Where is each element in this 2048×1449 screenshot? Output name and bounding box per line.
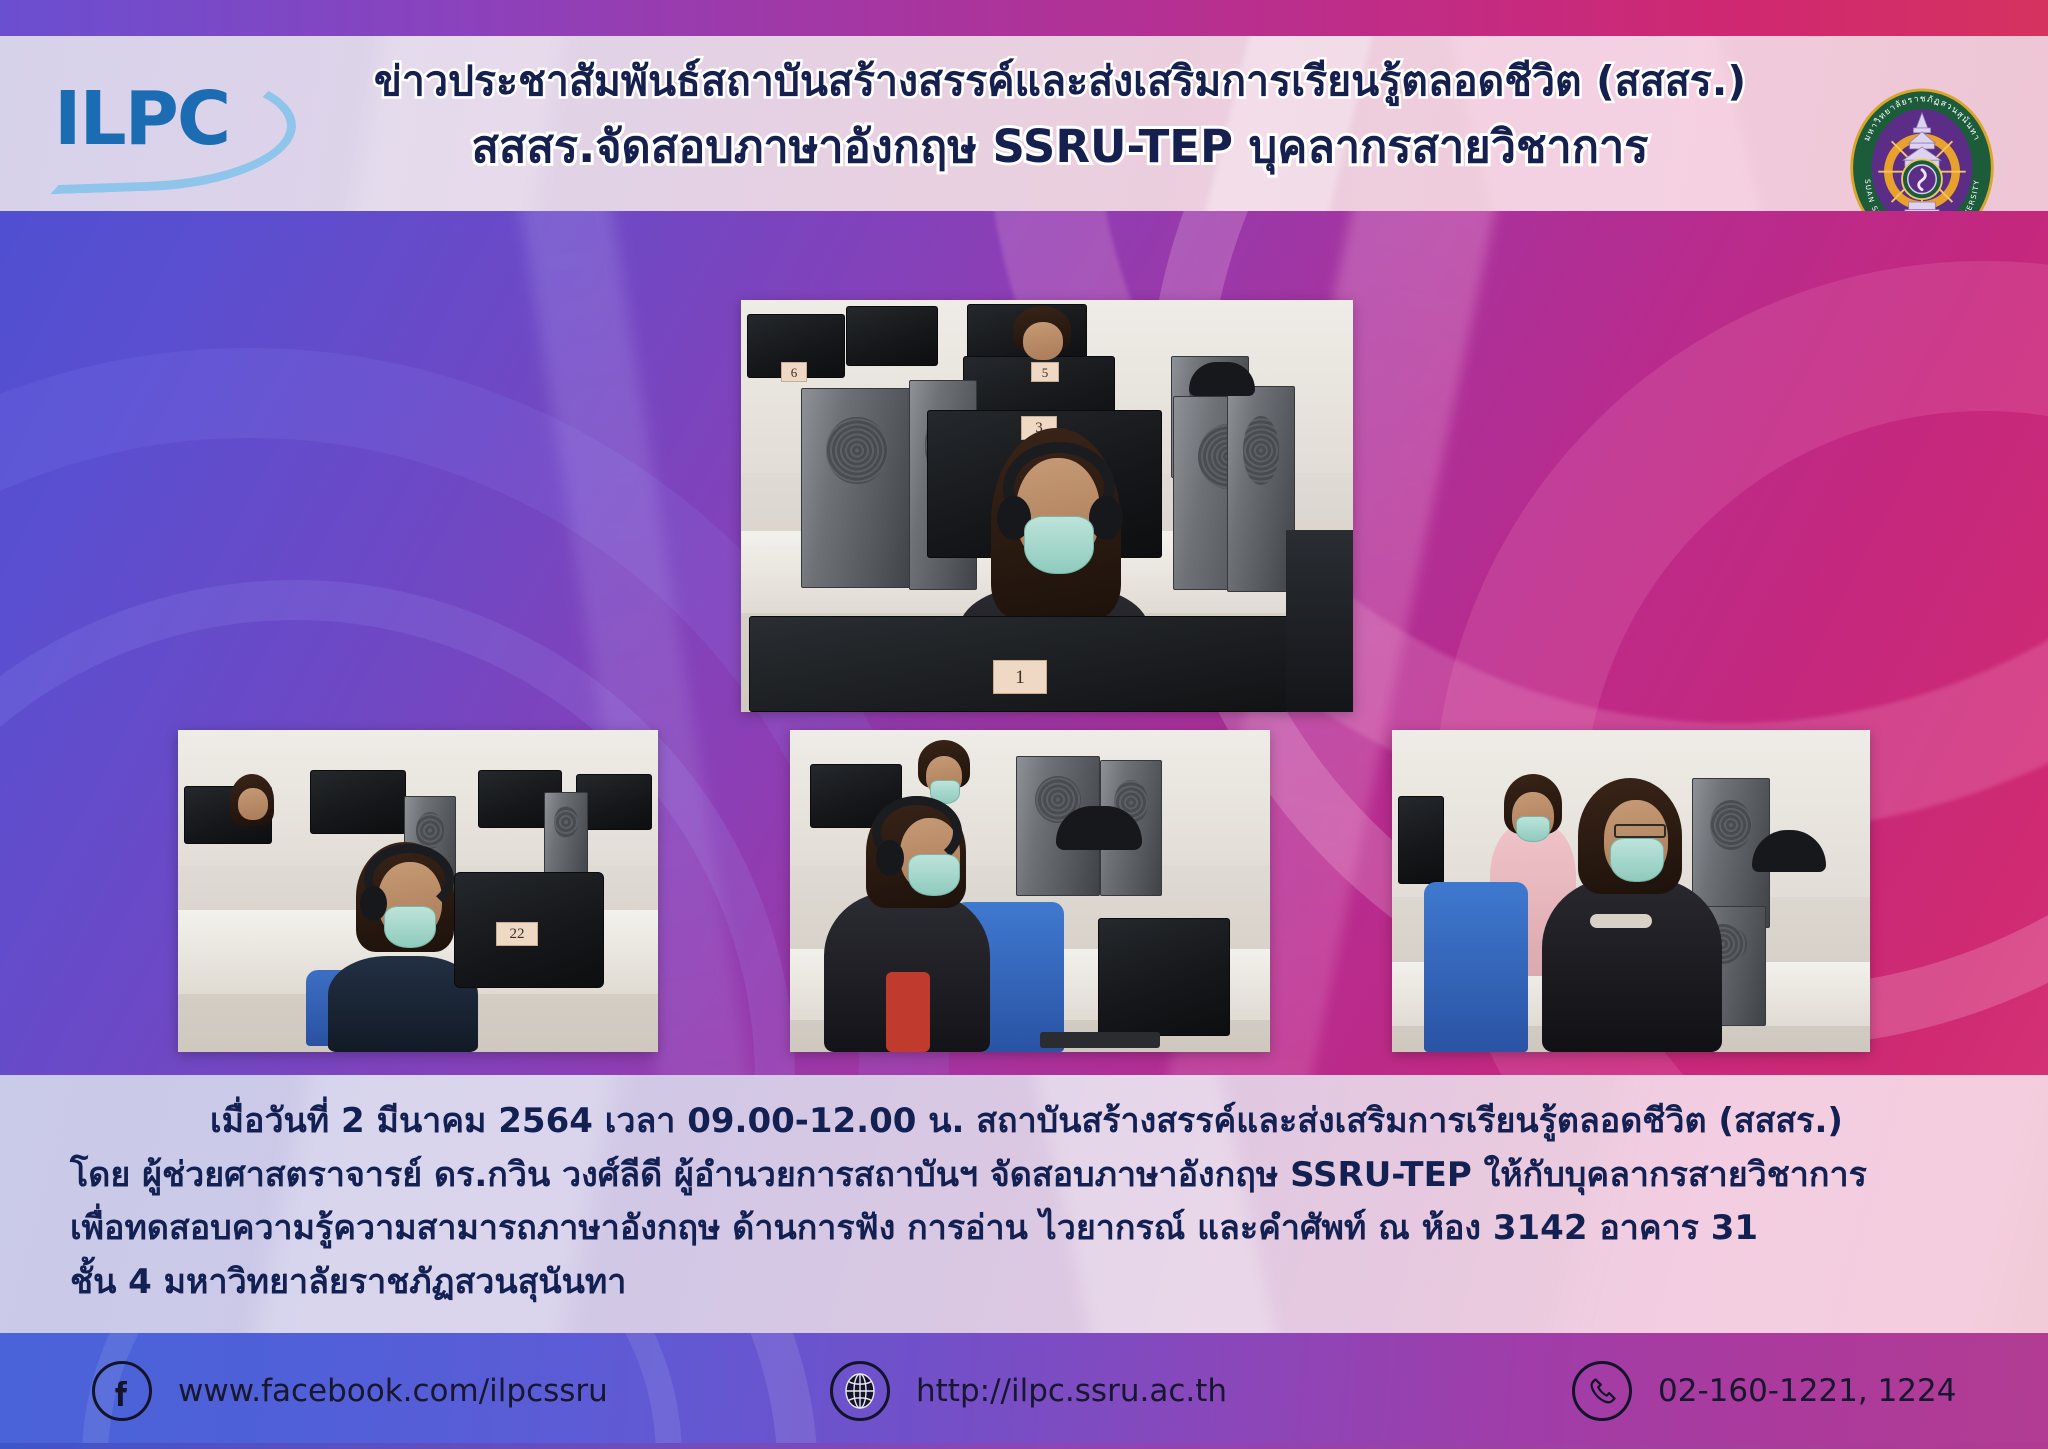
facebook-icon[interactable] (92, 1361, 152, 1421)
footer-band: www.facebook.com/ilpcssru http://ilpc.ss (0, 1333, 2048, 1449)
face-mask (1024, 516, 1094, 574)
poster-root: ILPC ข่าวประชาสัมพันธ์สถาบันสร้างสรรค์แล… (0, 0, 2048, 1449)
hero-photo: 6 5 3 (741, 300, 1353, 712)
pc-tower-left (801, 388, 913, 588)
necklace (1590, 914, 1652, 928)
photo-left: 22 (178, 730, 658, 1052)
seat-tag-1: 1 (993, 660, 1047, 694)
body-line-1: เมื่อวันที่ 2 มีนาคม 2564 เวลา 09.00-12.… (70, 1095, 1988, 1149)
phone-icon[interactable] (1572, 1361, 1632, 1421)
body-text-band: เมื่อวันที่ 2 มีนาคม 2564 เวลา 09.00-12.… (0, 1075, 2048, 1333)
foreground-monitor (1098, 918, 1230, 1036)
side-equipment (1286, 530, 1353, 712)
chair (1424, 882, 1528, 1052)
headset-earcup-right (1089, 496, 1123, 540)
subject-body (1542, 878, 1722, 1052)
footer-phone[interactable]: 02-160-1221, 1224 (1572, 1359, 1956, 1423)
seat-tag-22: 22 (496, 922, 538, 946)
pc-tower-right-2 (1227, 386, 1295, 592)
body-line-3: เพื่อทดสอบความรู้ความสามารถภาษาอังกฤษ ด้… (70, 1202, 1988, 1256)
phone-number[interactable]: 02-160-1221, 1224 (1658, 1373, 1956, 1409)
seat-tag-5: 5 (1031, 362, 1059, 382)
eyeglasses (1614, 824, 1666, 838)
footer-website[interactable]: http://ilpc.ssru.ac.th (830, 1359, 1227, 1423)
footer-facebook[interactable]: www.facebook.com/ilpcssru (92, 1359, 608, 1423)
facebook-url[interactable]: www.facebook.com/ilpcssru (178, 1373, 608, 1409)
headset-earcup (360, 886, 387, 921)
seat-tag-6: 6 (781, 362, 807, 382)
photo-center (790, 730, 1270, 1052)
monitor-b (310, 770, 406, 834)
face-mask (908, 854, 960, 896)
second-subject-mask (1516, 816, 1550, 842)
back-monitor-b (846, 306, 938, 366)
body-paragraph: เมื่อวันที่ 2 มีนาคม 2564 เวลา 09.00-12.… (70, 1095, 1988, 1310)
face-mask (1610, 838, 1664, 882)
body-line-4: ชั้น 4 มหาวิทยาลัยราชภัฏสวนสุนันทา (70, 1256, 1988, 1310)
globe-icon[interactable] (830, 1361, 890, 1421)
bg-person-head (238, 788, 268, 820)
face-mask (384, 906, 436, 948)
footer-bottom-edge (0, 1443, 2048, 1449)
photo-right (1392, 730, 1870, 1052)
headset-earcup (876, 840, 904, 876)
subject-blouse (886, 972, 930, 1052)
monitor-a (1398, 796, 1444, 884)
website-url[interactable]: http://ilpc.ssru.ac.th (916, 1373, 1227, 1409)
body-line-2: โดย ผู้ช่วยศาสตราจารย์ ดร.กวิน วงศ์ลีดี … (70, 1149, 1988, 1203)
keyboard (1040, 1032, 1160, 1048)
background-person-head (1023, 322, 1063, 360)
